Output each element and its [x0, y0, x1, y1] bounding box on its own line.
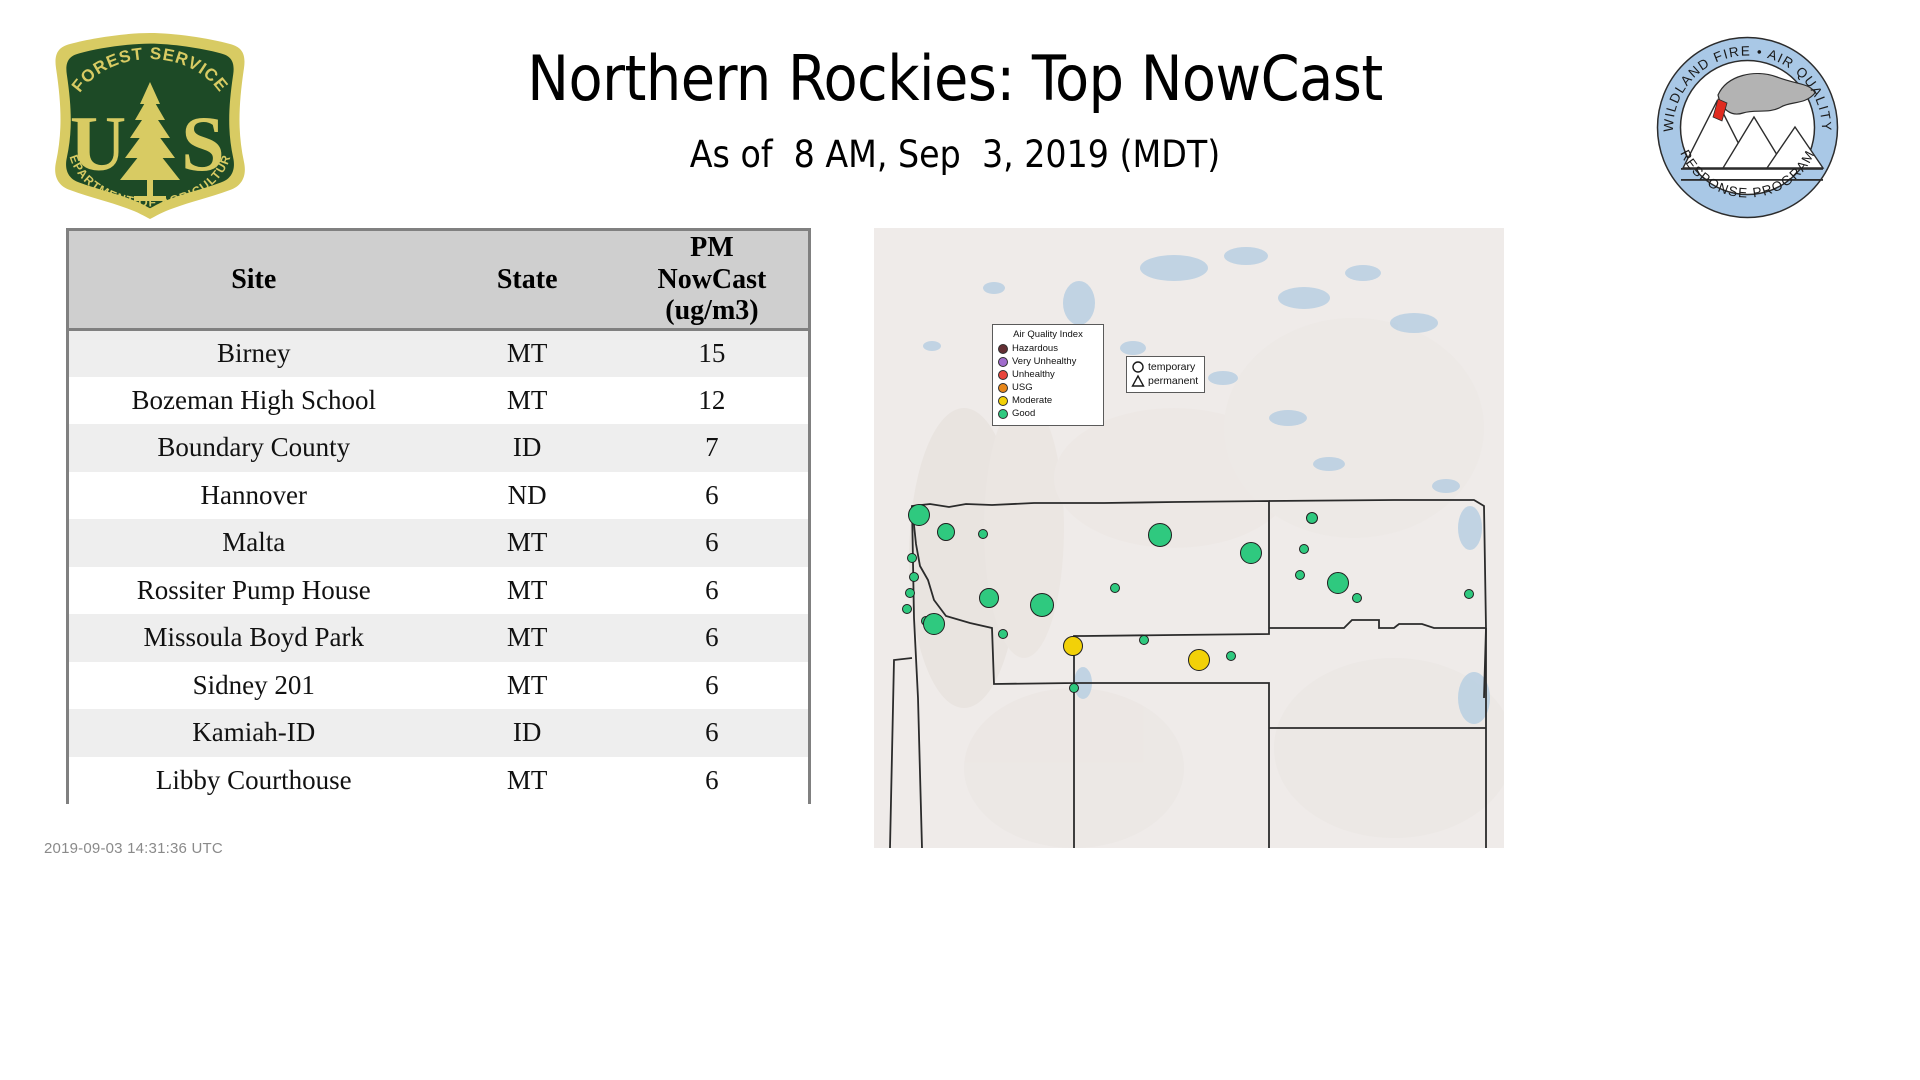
table-row[interactable]: MaltaMT6: [69, 519, 808, 567]
cell-state: MT: [439, 614, 616, 662]
cell-site: Sidney 201: [69, 662, 439, 710]
map-station-marker[interactable]: [907, 553, 917, 563]
aqi-legend-item: Very Unhealthy: [998, 355, 1098, 368]
page-header: FOREST SERVICE U S DEPARTMENT OF AGRICUL…: [0, 0, 1920, 230]
cell-site: Malta: [69, 519, 439, 567]
legend-temporary: temporary: [1131, 360, 1198, 374]
column-header-state[interactable]: State: [439, 231, 616, 329]
title-block: Northern Rockies: Top NowCast As of 8 AM…: [260, 46, 1650, 176]
map-station-marker[interactable]: [1327, 572, 1349, 594]
cell-state: ID: [439, 424, 616, 472]
map-station-marker[interactable]: [1464, 589, 1474, 599]
cell-state: MT: [439, 519, 616, 567]
cell-pm-nowcast: 15: [616, 329, 808, 377]
table-header-row: Site State PM NowCast (ug/m3): [69, 231, 808, 329]
legend-permanent: permanent: [1131, 374, 1198, 388]
cell-state: MT: [439, 757, 616, 805]
table-row[interactable]: HannoverND6: [69, 472, 808, 520]
generation-timestamp: 2019-09-03 14:31:36 UTC: [44, 840, 223, 857]
cell-pm-nowcast: 6: [616, 519, 808, 567]
column-header-pm-nowcast[interactable]: PM NowCast (ug/m3): [616, 231, 808, 329]
map-station-marker[interactable]: [1188, 649, 1210, 671]
cell-site: Missoula Boyd Park: [69, 614, 439, 662]
map-station-marker[interactable]: [923, 613, 945, 635]
table-row[interactable]: BirneyMT15: [69, 329, 808, 377]
aqi-legend-label: USG: [1012, 382, 1033, 393]
nowcast-table-panel: Site State PM NowCast (ug/m3) BirneyMT15…: [66, 228, 811, 804]
map-station-marker[interactable]: [1352, 593, 1362, 603]
nowcast-table: Site State PM NowCast (ug/m3) BirneyMT15…: [69, 231, 808, 804]
cell-pm-nowcast: 6: [616, 662, 808, 710]
page-subtitle: As of 8 AM, Sep 3, 2019 (MDT): [260, 133, 1650, 176]
aqi-legend-label: Good: [1012, 408, 1035, 419]
aqi-legend-swatch-icon: [998, 396, 1008, 406]
map-station-marker[interactable]: [1030, 593, 1054, 617]
map-station-marker[interactable]: [1306, 512, 1318, 524]
aqi-legend-swatch-icon: [998, 357, 1008, 367]
cell-state: MT: [439, 662, 616, 710]
cell-site: Boundary County: [69, 424, 439, 472]
map-station-marker[interactable]: [979, 588, 999, 608]
map-station-marker[interactable]: [937, 523, 955, 541]
map-station-marker[interactable]: [978, 529, 988, 539]
table-row[interactable]: Kamiah-IDID6: [69, 709, 808, 757]
cell-site: Hannover: [69, 472, 439, 520]
map-station-marker[interactable]: [1226, 651, 1236, 661]
station-type-legend: temporary permanent: [1126, 356, 1205, 393]
aqi-legend: Air Quality Index HazardousVery Unhealth…: [992, 324, 1104, 426]
cell-site: Kamiah-ID: [69, 709, 439, 757]
cell-pm-nowcast: 6: [616, 709, 808, 757]
aqi-legend-label: Unhealthy: [1012, 369, 1055, 380]
cell-pm-nowcast: 6: [616, 567, 808, 615]
cell-state: MT: [439, 377, 616, 425]
map-station-marker[interactable]: [1063, 636, 1083, 656]
map-station-marker[interactable]: [1110, 583, 1120, 593]
legend-permanent-label: permanent: [1148, 375, 1198, 387]
cell-pm-nowcast: 6: [616, 614, 808, 662]
cell-state: MT: [439, 567, 616, 615]
map-station-marker[interactable]: [909, 572, 919, 582]
aqi-legend-title: Air Quality Index: [998, 329, 1098, 340]
cell-pm-nowcast: 7: [616, 424, 808, 472]
aqi-legend-label: Very Unhealthy: [1012, 356, 1076, 367]
map-basemap: [874, 228, 1504, 848]
aqi-legend-swatch-icon: [998, 383, 1008, 393]
cell-pm-nowcast: 6: [616, 757, 808, 805]
cell-pm-nowcast: 6: [616, 472, 808, 520]
aqi-legend-item: USG: [998, 381, 1098, 394]
map-station-marker[interactable]: [1069, 683, 1079, 693]
table-row[interactable]: Missoula Boyd ParkMT6: [69, 614, 808, 662]
table-body: BirneyMT15Bozeman High SchoolMT12Boundar…: [69, 329, 808, 804]
cell-state: MT: [439, 329, 616, 377]
table-head: Site State PM NowCast (ug/m3): [69, 231, 808, 329]
page-title: Northern Rockies: Top NowCast: [260, 46, 1650, 111]
column-header-site[interactable]: Site: [69, 231, 439, 329]
aqi-legend-swatch-icon: [998, 344, 1008, 354]
map-station-marker[interactable]: [1139, 635, 1149, 645]
table-row[interactable]: Bozeman High SchoolMT12: [69, 377, 808, 425]
aqi-legend-label: Moderate: [1012, 395, 1052, 406]
cell-site: Birney: [69, 329, 439, 377]
aqi-legend-item: Good: [998, 407, 1098, 420]
aqi-station-map[interactable]: Air Quality Index HazardousVery Unhealth…: [874, 228, 1504, 848]
cell-pm-nowcast: 12: [616, 377, 808, 425]
map-station-marker[interactable]: [1295, 570, 1305, 580]
cell-state: ID: [439, 709, 616, 757]
cell-site: Rossiter Pump House: [69, 567, 439, 615]
legend-temporary-label: temporary: [1148, 361, 1195, 373]
temporary-circle-icon: [1131, 360, 1145, 374]
table-row[interactable]: Sidney 201MT6: [69, 662, 808, 710]
wfaqrp-seal-logo: WILDLAND FIRE • AIR QUALITY RESPONSE PRO…: [1655, 35, 1840, 220]
aqi-legend-item: Unhealthy: [998, 368, 1098, 381]
map-station-marker[interactable]: [908, 504, 930, 526]
map-station-marker[interactable]: [998, 629, 1008, 639]
map-station-marker[interactable]: [902, 604, 912, 614]
map-station-marker[interactable]: [1148, 523, 1172, 547]
usfs-shield-logo: FOREST SERVICE U S DEPARTMENT OF AGRICUL…: [48, 30, 253, 220]
aqi-legend-swatch-icon: [998, 409, 1008, 419]
cell-state: ND: [439, 472, 616, 520]
table-row[interactable]: Libby CourthouseMT6: [69, 757, 808, 805]
aqi-legend-item: Hazardous: [998, 342, 1098, 355]
aqi-legend-label: Hazardous: [1012, 343, 1058, 354]
cell-site: Libby Courthouse: [69, 757, 439, 805]
map-station-marker[interactable]: [1240, 542, 1262, 564]
map-station-marker[interactable]: [1299, 544, 1309, 554]
aqi-legend-item: Moderate: [998, 394, 1098, 407]
cell-site: Bozeman High School: [69, 377, 439, 425]
aqi-legend-swatch-icon: [998, 370, 1008, 380]
map-station-marker[interactable]: [905, 588, 915, 598]
table-row[interactable]: Rossiter Pump HouseMT6: [69, 567, 808, 615]
table-row[interactable]: Boundary CountyID7: [69, 424, 808, 472]
permanent-triangle-icon: [1131, 374, 1145, 388]
